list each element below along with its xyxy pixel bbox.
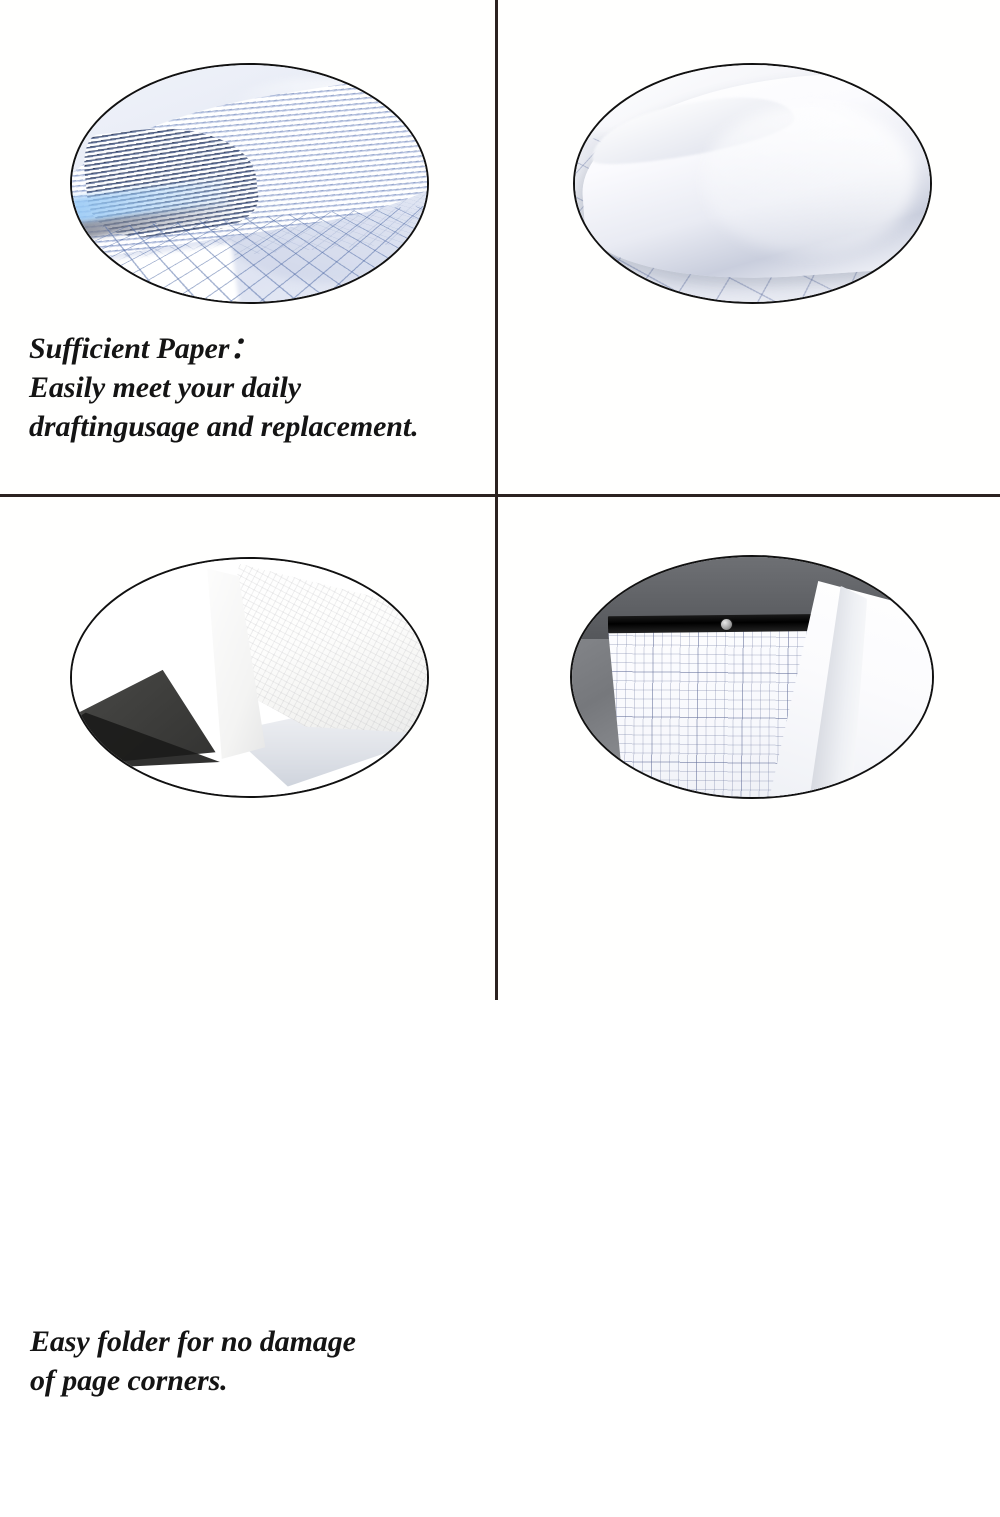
panel-easy-folder: Easy folder for no damage of page corner…	[0, 497, 495, 1000]
photo-perforated-pad	[570, 555, 934, 799]
panel-sufficient-paper: Sufficient Paper： Easily meet your daily…	[0, 0, 495, 494]
photo-paper-stack-content	[72, 65, 427, 302]
photo-sheet-lift-content	[575, 65, 930, 302]
vertical-divider	[495, 0, 498, 1000]
panel-high-quality-paper: High Quality Paper: 100gsm paper materia…	[498, 0, 1000, 494]
photo-paper-stack	[70, 63, 429, 304]
photo-folded-corner-content	[72, 559, 427, 796]
caption-sufficient-paper: Sufficient Paper： Easily meet your daily…	[29, 329, 419, 446]
feature-grid-page: Sufficient Paper： Easily meet your daily…	[0, 0, 1000, 1000]
panel-perfect-perforation: Perfect perforation for easy easy tear-o…	[498, 497, 1000, 1000]
photo-folded-corner	[70, 557, 429, 798]
caption-easy-folder: Easy folder for no damage of page corner…	[30, 1322, 356, 1400]
photo-sheet-lift	[573, 63, 932, 304]
sheet-lift-gloss	[703, 103, 916, 255]
horizontal-divider	[0, 494, 1000, 497]
perforated-pad-binding-rivet-icon	[720, 618, 733, 631]
photo-perforated-pad-content	[572, 557, 932, 797]
